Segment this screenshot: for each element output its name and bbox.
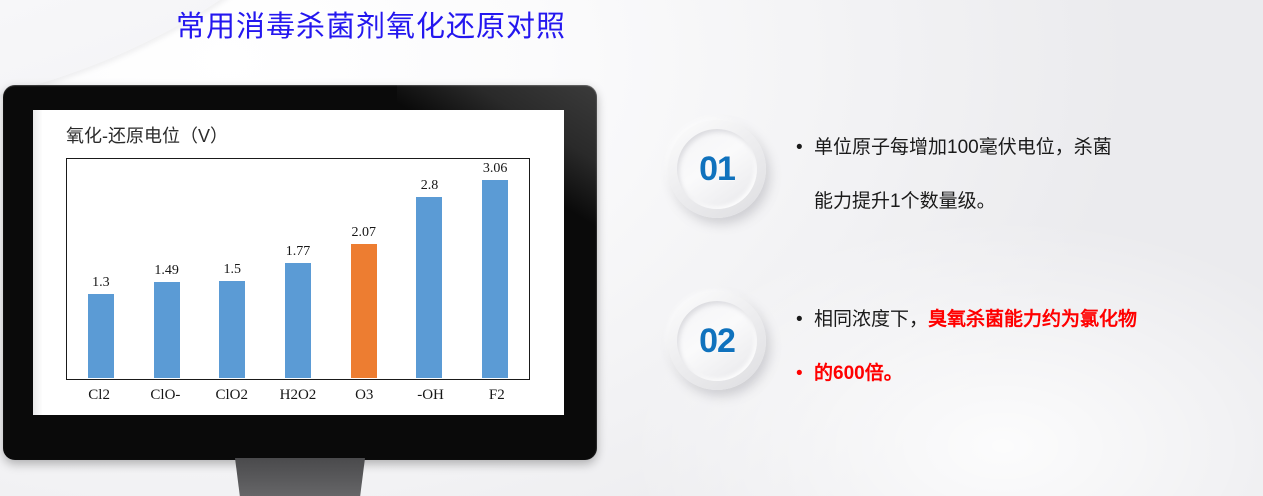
badge-inner-ring: 01 <box>677 129 757 209</box>
point-bullet-line: •的600倍。 <box>796 360 1248 388</box>
badge-number-text: 01 <box>699 152 735 186</box>
monitor-screen: 氧化-还原电位（V） 1.31.491.51.772.072.83.06 Cl2… <box>33 110 564 415</box>
text-segment: 相同浓度下， <box>814 309 928 330</box>
bullet-dot-icon: • <box>796 360 814 388</box>
chart-category-label: -OH <box>397 386 463 404</box>
chart-category-label: F2 <box>464 386 530 404</box>
bar-value-label: 1.77 <box>286 244 311 260</box>
bar-chart: 氧化-还原电位（V） 1.31.491.51.772.072.83.06 Cl2… <box>66 124 544 404</box>
chart-bar-group: 3.06 <box>462 160 528 378</box>
key-point-row: 02•相同浓度下，臭氧杀菌能力约为氯化物•的600倍。 <box>668 292 1248 410</box>
chart-category-label: H2O2 <box>265 386 331 404</box>
text-segment: 能力提升1个数量级。 <box>814 191 996 212</box>
bar-value-label: 3.06 <box>483 161 508 177</box>
key-point-row: 01•单位原子每增加100毫伏电位，杀菌•能力提升1个数量级。 <box>668 120 1248 238</box>
chart-bar <box>285 263 311 378</box>
chart-x-axis-labels: Cl2ClO-ClO2H2O2O3-OHF2 <box>66 386 530 404</box>
screen-left-shade <box>33 110 42 415</box>
bullet-text: 的600倍。 <box>814 360 903 388</box>
bar-value-label: 1.49 <box>154 263 179 279</box>
text-segment: 的600倍。 <box>814 363 903 384</box>
bullet-dot-icon: • <box>796 306 814 334</box>
chart-bar-group: 2.07 <box>331 160 397 378</box>
bullet-text: 相同浓度下，臭氧杀菌能力约为氯化物 <box>814 306 1137 334</box>
point-number-badge[interactable]: 02 <box>668 292 766 390</box>
bar-value-label: 1.5 <box>224 262 242 278</box>
chart-bar <box>219 281 245 378</box>
point-number-badge[interactable]: 01 <box>668 120 766 218</box>
chart-category-label: ClO2 <box>199 386 265 404</box>
chart-bar-group: 2.8 <box>397 160 463 378</box>
bullet-text: 单位原子每增加100毫伏电位，杀菌 <box>814 134 1112 162</box>
chart-bars-container: 1.31.491.51.772.072.83.06 <box>68 160 528 378</box>
monitor-illustration: 氧化-还原电位（V） 1.31.491.51.772.072.83.06 Cl2… <box>3 85 597 460</box>
chart-bar-group: 1.49 <box>134 160 200 378</box>
point-text-block: •单位原子每增加100毫伏电位，杀菌•能力提升1个数量级。 <box>796 120 1248 216</box>
bullet-dot-icon: • <box>796 134 814 162</box>
text-segment: 臭氧杀菌能力约为氯化物 <box>928 309 1137 330</box>
chart-bar-group: 1.5 <box>199 160 265 378</box>
chart-plot-area: 1.31.491.51.772.072.83.06 <box>66 158 530 380</box>
chart-bar <box>482 180 508 378</box>
chart-bar <box>416 197 442 378</box>
chart-bar <box>154 282 180 378</box>
chart-bar <box>351 244 377 378</box>
slide-canvas: 常用消毒杀菌剂氧化还原对照 氧化-还原电位（V） 1.31.491.51.772… <box>0 0 1263 496</box>
bar-value-label: 1.3 <box>92 275 110 291</box>
text-segment: 单位原子每增加100毫伏电位，杀菌 <box>814 137 1112 158</box>
chart-title: 氧化-还原电位（V） <box>66 124 228 148</box>
point-bullet-line: •相同浓度下，臭氧杀菌能力约为氯化物 <box>796 306 1248 334</box>
chart-bar <box>88 294 114 378</box>
badge-number-text: 02 <box>699 324 735 358</box>
chart-bar-group: 1.3 <box>68 160 134 378</box>
chart-category-label: Cl2 <box>66 386 132 404</box>
key-points-panel: 01•单位原子每增加100毫伏电位，杀菌•能力提升1个数量级。02•相同浓度下，… <box>668 120 1248 410</box>
monitor-bezel: 氧化-还原电位（V） 1.31.491.51.772.072.83.06 Cl2… <box>3 85 597 460</box>
point-bullet-line: •能力提升1个数量级。 <box>796 188 1248 216</box>
chart-category-label: ClO- <box>132 386 198 404</box>
chart-bar-group: 1.77 <box>265 160 331 378</box>
bar-value-label: 2.07 <box>351 225 376 241</box>
chart-category-label: O3 <box>331 386 397 404</box>
page-title: 常用消毒杀菌剂氧化还原对照 <box>176 8 566 46</box>
monitor-stand <box>235 458 365 496</box>
bullet-text: 能力提升1个数量级。 <box>814 188 996 216</box>
bar-value-label: 2.8 <box>421 178 439 194</box>
badge-inner-ring: 02 <box>677 301 757 381</box>
point-text-block: •相同浓度下，臭氧杀菌能力约为氯化物•的600倍。 <box>796 292 1248 388</box>
point-bullet-line: •单位原子每增加100毫伏电位，杀菌 <box>796 134 1248 162</box>
